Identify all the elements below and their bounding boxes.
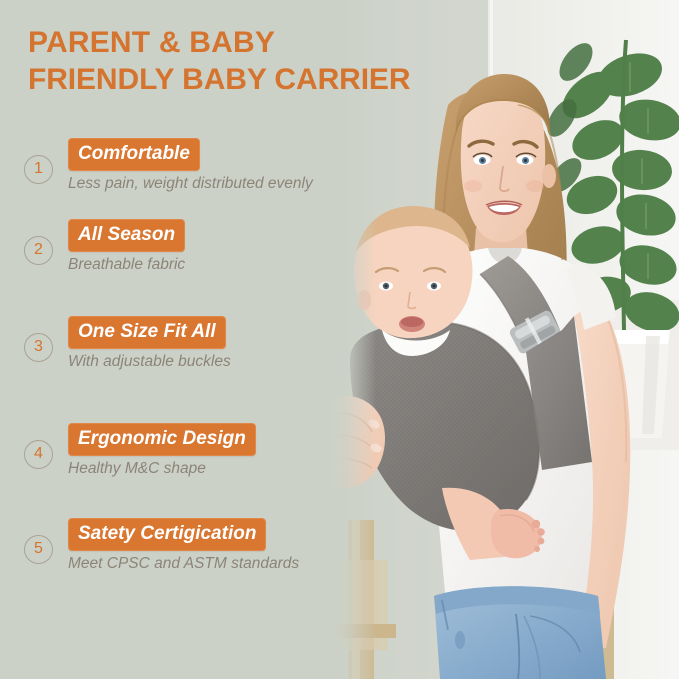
feature-body-4: Ergonomic Design Healthy M&C shape	[68, 423, 256, 479]
feature-number-4: 4	[24, 440, 53, 469]
feature-subtitle-2: Breathable fabric	[68, 255, 185, 275]
feature-number-3: 3	[24, 333, 53, 362]
feature-body-3: One Size Fit All With adjustable buckles	[68, 316, 231, 372]
feature-number-2: 2	[24, 236, 53, 265]
feature-heading-2: All Season	[68, 219, 185, 252]
feature-subtitle-4: Healthy M&C shape	[68, 459, 256, 479]
feature-heading-3: One Size Fit All	[68, 316, 226, 349]
product-infographic: PARENT & BABY FRIENDLY BABY CARRIER 1 Co…	[0, 0, 679, 679]
feature-body-1: Comfortable Less pain, weight distribute…	[68, 138, 313, 194]
product-lifestyle-photo	[330, 0, 679, 679]
feature-heading-5: Satety Certigication	[68, 518, 266, 551]
feature-number-1: 1	[24, 155, 53, 184]
feature-heading-1: Comfortable	[68, 138, 200, 171]
feature-subtitle-5: Meet CPSC and ASTM standards	[68, 554, 299, 574]
feature-subtitle-1: Less pain, weight distributed evenly	[68, 174, 313, 194]
feature-subtitle-3: With adjustable buckles	[68, 352, 231, 372]
feature-body-2: All Season Breathable fabric	[68, 219, 185, 275]
feature-heading-4: Ergonomic Design	[68, 423, 256, 456]
feature-list: 1 Comfortable Less pain, weight distribu…	[0, 0, 340, 679]
feature-body-5: Satety Certigication Meet CPSC and ASTM …	[68, 518, 299, 574]
feature-number-5: 5	[24, 535, 53, 564]
